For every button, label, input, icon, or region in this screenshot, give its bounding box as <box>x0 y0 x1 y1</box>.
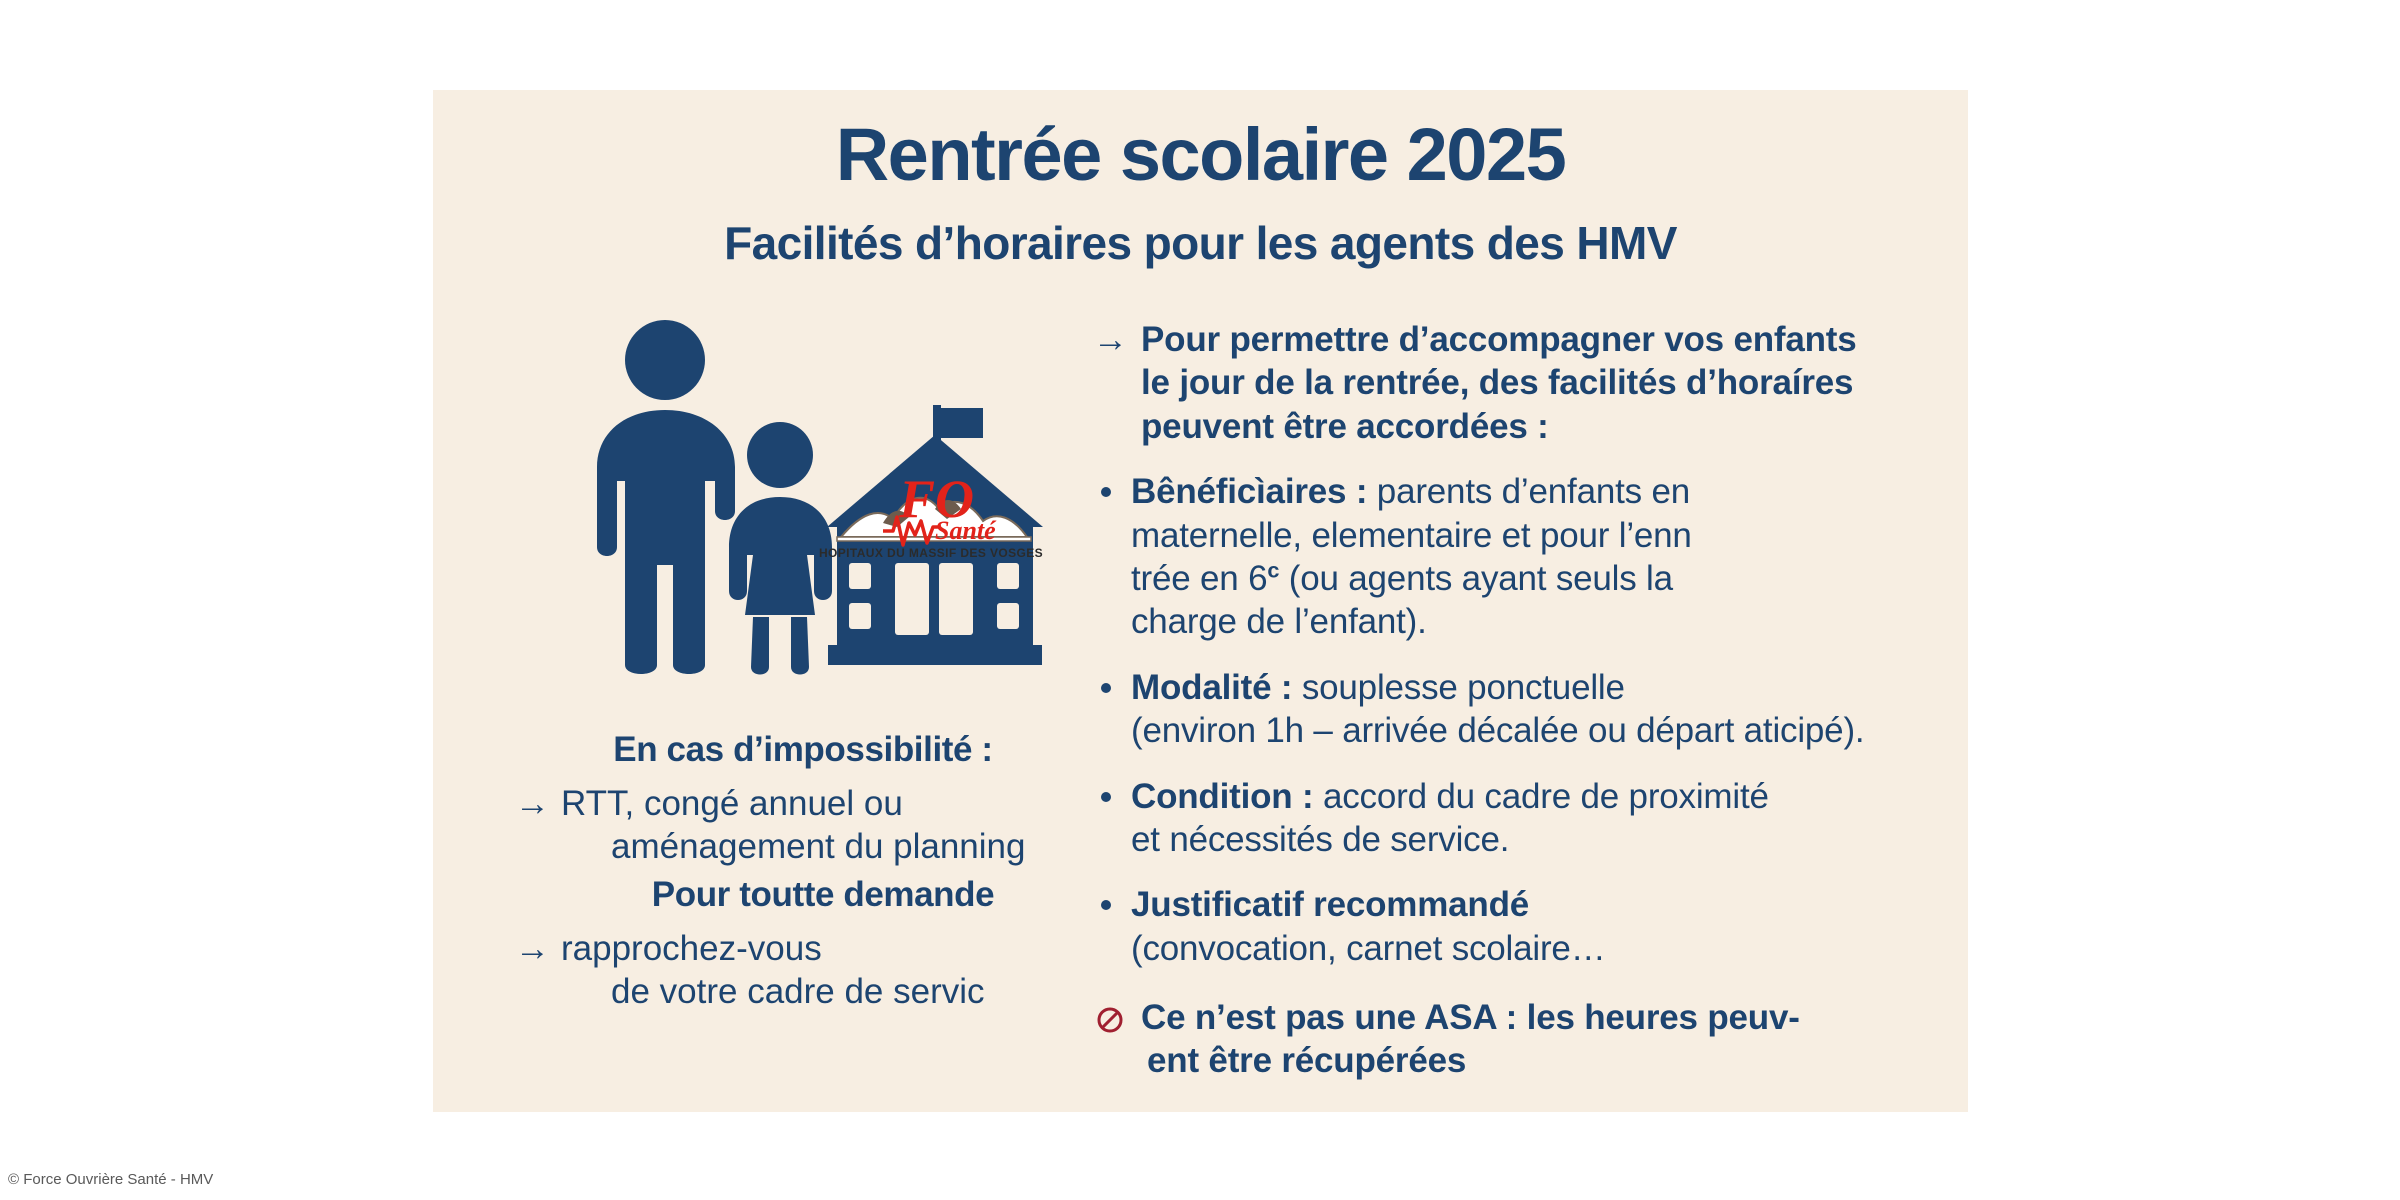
bullet-label: Condition : <box>1131 777 1313 816</box>
impossibility-block: En cas d’impossibilité : →RTT, congé ann… <box>493 730 1113 869</box>
bullet-text-3-post: (ou agents ayant seuls la <box>1279 559 1673 598</box>
bullet-text-1: souplesse ponctuelle <box>1292 668 1624 707</box>
page-subtitle: Facilités d’horaires pour les agents des… <box>433 220 1968 266</box>
impossibility-line-2: aménagement du planning <box>563 826 1113 869</box>
bullet-text-2: (environ 1h – arrivée décalée ou départ … <box>1131 711 1864 750</box>
bullet-label: Justificatif recommandé <box>1131 885 1529 924</box>
bullet-dot-icon <box>1101 792 1111 802</box>
details-column: → Pour permettre d’accompagner vos enfan… <box>1093 318 1933 1083</box>
bullet-dot-icon <box>1101 683 1111 693</box>
intro-line-1: Pour permettre d’accompagner vos enfants <box>1141 320 1857 359</box>
request-line-2: de votre cadre de servic <box>563 971 1153 1014</box>
impossibility-line-1: RTT, congé annuel ou <box>561 784 903 823</box>
warning-block: Ce n’est pas une ASA : les heures peuv- … <box>1093 996 1933 1083</box>
bullet-text-1: parents d’enfants en <box>1367 472 1690 511</box>
illustration: FO Santé HOPITAUX DU MASSIF DES VOSGES <box>573 315 1073 685</box>
warning-line-1: Ce n’est pas une ASA : les heures peuv- <box>1141 998 1800 1037</box>
child-pictogram <box>729 422 832 675</box>
list-item: Modalité : souplesse ponctuelle (environ… <box>1093 666 1933 753</box>
intro-line-3: peuvent être accordées : <box>1141 407 1549 446</box>
adult-pictogram <box>597 320 735 674</box>
svg-text:HOPITAUX DU MASSIF DES VOSGES: HOPITAUX DU MASSIF DES VOSGES <box>819 546 1043 560</box>
bullet-text-4: charge de l’enfant). <box>1131 602 1427 641</box>
list-item: Bênéficìaires : parents d’enfants en mat… <box>1093 470 1933 644</box>
bullet-text-3-pre: trée en 6 <box>1131 559 1267 598</box>
intro-paragraph: → Pour permettre d’accompagner vos enfan… <box>1093 318 1933 448</box>
arrow-icon: → <box>515 928 561 971</box>
poster-card: Rentrée scolaire 2025 Facilités d’horair… <box>433 90 1968 1112</box>
warning-line-2: ent être récupérées <box>1141 1039 1933 1082</box>
bullet-text-2: maternelle, elementaire et pour l’enn <box>1131 516 1692 555</box>
arrow-icon: → <box>515 783 561 826</box>
impossibility-body: →RTT, congé annuel ou aménagement du pla… <box>493 783 1113 868</box>
request-line-1: rapprochez-vous <box>561 929 822 968</box>
grade-superscript: c <box>1267 557 1279 582</box>
list-item: Justificatif recommandé (convocation, ca… <box>1093 883 1933 970</box>
bullet-text-2: (convocation, carnet scolaire… <box>1131 929 1606 968</box>
bullet-label: Modalité : <box>1131 668 1292 707</box>
request-body: →rapprochez-vous de votre cadre de servi… <box>493 928 1153 1013</box>
prohibition-icon <box>1095 1002 1125 1045</box>
svg-text:Santé: Santé <box>935 516 997 545</box>
copyright-credit: © Force Ouvrière Santé - HMV <box>8 1171 213 1188</box>
bullet-text-2: et nécessités de service. <box>1131 820 1509 859</box>
bullet-text-1: accord du cadre de proximité <box>1313 777 1768 816</box>
arrow-icon: → <box>1093 318 1128 361</box>
bullet-dot-icon <box>1101 487 1111 497</box>
bullet-label: Bênéficìaires : <box>1131 472 1367 511</box>
bullet-dot-icon <box>1101 900 1111 910</box>
list-item: Condition : accord du cadre de proximité… <box>1093 775 1933 862</box>
request-heading: Pour toutte demande <box>493 875 1153 914</box>
intro-line-2: le jour de la rentrée, des facilités d’h… <box>1141 363 1853 402</box>
request-block: Pour toutte demande →rapprochez-vous de … <box>493 875 1153 1014</box>
page-title: Rentrée scolaire 2025 <box>433 118 1968 192</box>
impossibility-heading: En cas d’impossibilité : <box>493 730 1113 769</box>
